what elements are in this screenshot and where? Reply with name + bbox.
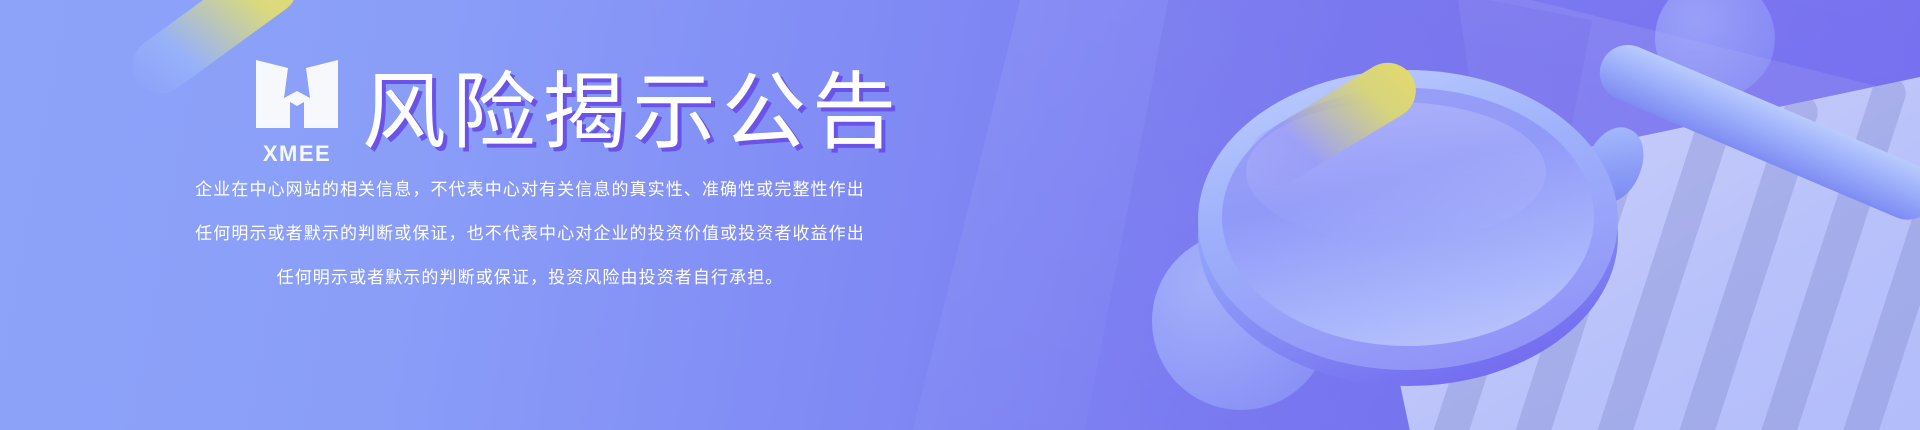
disclaimer-text: 企业在中心网站的相关信息，不代表中心对有关信息的真实性、准确性或完整性作出 任何… [0, 168, 1060, 300]
disclaimer-line: 企业在中心网站的相关信息，不代表中心对有关信息的真实性、准确性或完整性作出 [0, 168, 1060, 212]
disclaimer-line: 任何明示或者默示的判断或保证，投资风险由投资者自行承担。 [0, 256, 1060, 300]
banner-content: XMEE 风险揭示公告 企业在中心网站的相关信息，不代表中心对有关信息的真实性、… [0, 0, 1060, 430]
circle-shape-icon [1152, 232, 1330, 410]
yellow-pill-shape-icon [1239, 52, 1426, 195]
circle-shape-icon [1655, 0, 1775, 98]
diagonal-stripes-panel-icon [1360, 38, 1920, 430]
disclaimer-line: 任何明示或者默示的判断或保证，也不代表中心对企业的投资价值或投资者收益作出 [0, 212, 1060, 256]
page-title: 风险揭示公告 [362, 70, 902, 154]
brand-title-row: XMEE 风险揭示公告 [254, 58, 902, 166]
xmee-shield-logo-icon: XMEE [254, 58, 340, 166]
risk-disclosure-banner: XMEE 风险揭示公告 企业在中心网站的相关信息，不代表中心对有关信息的真实性、… [0, 0, 1920, 430]
logo-wordmark: XMEE [263, 143, 331, 165]
